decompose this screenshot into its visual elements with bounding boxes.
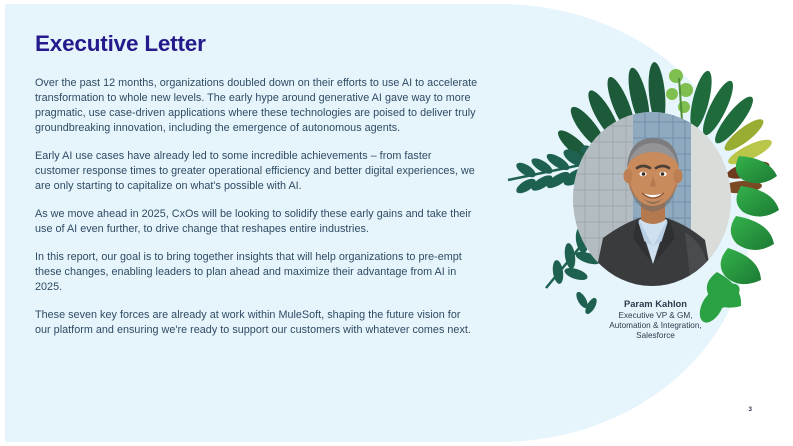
avatar xyxy=(573,112,731,286)
body-paragraph-1: Over the past 12 months, organizations d… xyxy=(35,76,478,136)
body-paragraph-2: Early AI use cases have already led to s… xyxy=(35,149,478,194)
caption-title-line-1: Executive VP & GM, xyxy=(558,311,753,321)
portrait-caption: Param Kahlon Executive VP & GM, Automati… xyxy=(558,298,753,342)
body-paragraph-5: These seven key forces are already at wo… xyxy=(35,308,478,338)
slide-canvas: Executive Letter Over the past 12 months… xyxy=(0,0,793,446)
headshot-photo xyxy=(573,112,731,286)
body-paragraph-3: As we move ahead in 2025, CxOs will be l… xyxy=(35,207,478,237)
caption-name: Param Kahlon xyxy=(558,298,753,310)
page-number: 3 xyxy=(748,406,752,413)
caption-title-line-3: Salesforce xyxy=(558,331,753,341)
text-column: Executive Letter Over the past 12 months… xyxy=(35,32,487,338)
caption-title-line-2: Automation & Integration, xyxy=(558,321,753,331)
page-title: Executive Letter xyxy=(35,32,487,57)
body-paragraph-4: In this report, our goal is to bring tog… xyxy=(35,250,478,295)
